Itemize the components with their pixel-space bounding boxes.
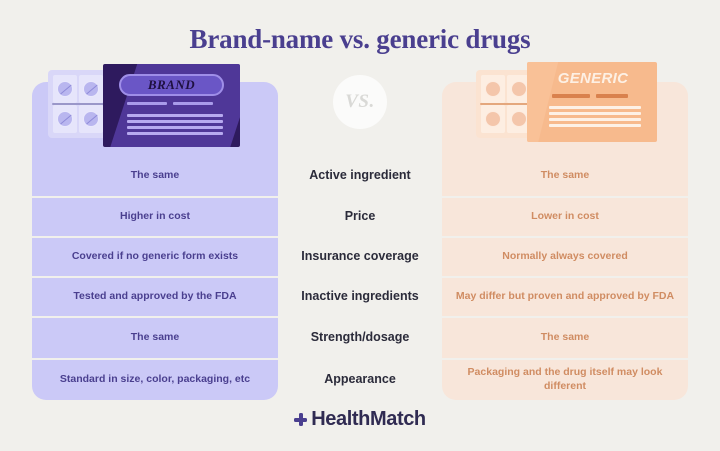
generic-value-cell: The same <box>442 154 688 196</box>
pill-icon <box>511 111 527 127</box>
brand-value-cell: The same <box>32 154 278 196</box>
generic-value-cell: Normally always covered <box>442 236 688 276</box>
pill-icon <box>83 81 99 97</box>
pill-icon <box>57 111 73 127</box>
brand-box-lines <box>127 114 223 135</box>
brand-drug-box-illustration: BRAND <box>103 64 240 147</box>
pill-icon <box>485 81 501 97</box>
generic-box-label: GENERIC <box>541 70 645 87</box>
healthmatch-logo: HealthMatch <box>0 408 720 431</box>
generic-value-cell: The same <box>442 316 688 358</box>
generic-value-cell: Packaging and the drug itself may look d… <box>442 358 688 400</box>
pill-icon <box>511 81 527 97</box>
pill-icon <box>57 81 73 97</box>
generic-box-dashes <box>552 94 628 98</box>
brand-box-label: BRAND <box>119 74 224 96</box>
brand-value-cell: Covered if no generic form exists <box>32 236 278 276</box>
generic-drug-box-illustration: GENERIC <box>527 62 657 142</box>
logo-wordmark: HealthMatch <box>311 408 426 431</box>
infographic-canvas: Brand-name vs. generic drugs The same Hi… <box>0 0 720 451</box>
attribute-label: Price <box>278 196 442 236</box>
generic-value-cell: May differ but proven and approved by FD… <box>442 276 688 316</box>
brand-box-dashes <box>127 102 213 105</box>
vs-badge: VS. <box>333 75 387 129</box>
attribute-label: Inactive ingredients <box>278 276 442 316</box>
generic-box-lines <box>549 106 641 127</box>
blister-cell <box>79 75 103 103</box>
blister-cell <box>481 105 505 133</box>
pill-icon <box>485 111 501 127</box>
attribute-label-column: Active ingredient Price Insurance covera… <box>278 154 442 400</box>
blister-cell <box>53 75 77 103</box>
brand-value-cell: Higher in cost <box>32 196 278 236</box>
brand-value-cell: The same <box>32 316 278 358</box>
attribute-label: Insurance coverage <box>278 236 442 276</box>
generic-value-list: The same Lower in cost Normally always c… <box>442 154 688 400</box>
attribute-label: Strength/dosage <box>278 316 442 358</box>
brand-value-cell: Tested and approved by the FDA <box>32 276 278 316</box>
blister-cell <box>53 105 77 133</box>
pill-icon <box>83 111 99 127</box>
blister-cell <box>79 105 103 133</box>
brand-value-cell: Standard in size, color, packaging, etc <box>32 358 278 400</box>
medical-cross-icon <box>294 413 307 426</box>
attribute-label: Appearance <box>278 358 442 400</box>
brand-value-list: The same Higher in cost Covered if no ge… <box>32 154 278 400</box>
generic-value-cell: Lower in cost <box>442 196 688 236</box>
page-title: Brand-name vs. generic drugs <box>0 24 720 55</box>
attribute-label: Active ingredient <box>278 154 442 196</box>
blister-cell <box>481 75 505 103</box>
